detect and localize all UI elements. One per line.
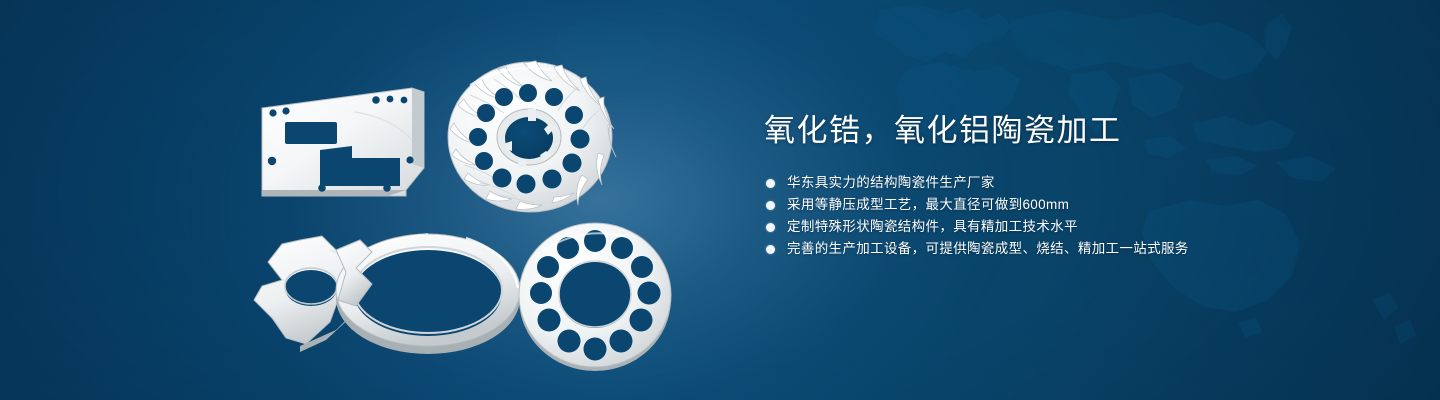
list-item-label: 定制特殊形状陶瓷结构件，具有精加工技术水平 bbox=[787, 216, 1078, 238]
ceramic-ring-part bbox=[336, 234, 520, 354]
bullet-dot-icon bbox=[766, 223, 775, 232]
ceramic-plate-part bbox=[262, 88, 424, 196]
list-item-label: 完善的生产加工设备，可提供陶瓷成型、烧结、精加工一站式服务 bbox=[787, 238, 1189, 260]
ceramic-impeller-part bbox=[448, 61, 616, 212]
hero-banner: 氧化锆，氧化铝陶瓷加工 华东具实力的结构陶瓷件生产厂家 采用等静压成型工艺，最大… bbox=[0, 0, 1440, 400]
banner-copy: 氧化锆，氧化铝陶瓷加工 华东具实力的结构陶瓷件生产厂家 采用等静压成型工艺，最大… bbox=[764, 112, 1384, 260]
list-item: 采用等静压成型工艺，最大直径可做到600mm bbox=[766, 194, 1384, 216]
bullet-dot-icon bbox=[766, 201, 775, 210]
bullet-dot-icon bbox=[766, 245, 775, 254]
list-item-label: 华东具实力的结构陶瓷件生产厂家 bbox=[787, 172, 995, 194]
feature-list: 华东具实力的结构陶瓷件生产厂家 采用等静压成型工艺，最大直径可做到600mm 定… bbox=[766, 172, 1384, 260]
bullet-dot-icon bbox=[766, 179, 775, 188]
list-item: 完善的生产加工设备，可提供陶瓷成型、烧结、精加工一站式服务 bbox=[766, 238, 1384, 260]
list-item: 定制特殊形状陶瓷结构件，具有精加工技术水平 bbox=[766, 216, 1384, 238]
page-title: 氧化锆，氧化铝陶瓷加工 bbox=[764, 112, 1384, 150]
ceramic-perforated-disc-part bbox=[519, 223, 671, 371]
ceramic-products-image bbox=[0, 0, 720, 400]
list-item: 华东具实力的结构陶瓷件生产厂家 bbox=[766, 172, 1384, 194]
list-item-label: 采用等静压成型工艺，最大直径可做到600mm bbox=[787, 194, 1069, 216]
